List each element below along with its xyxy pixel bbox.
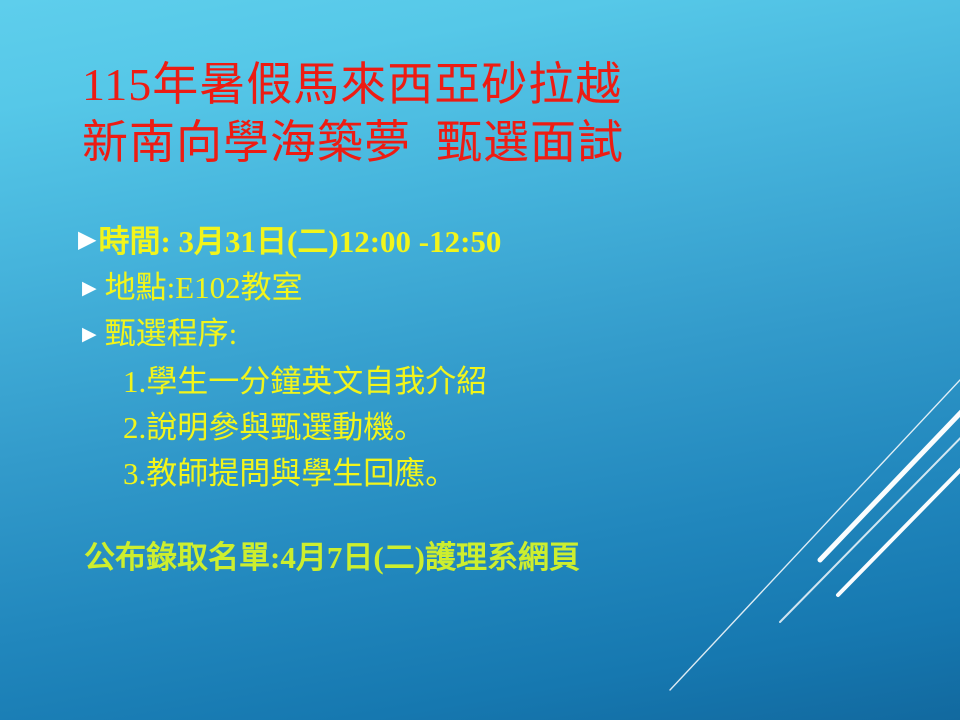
slide-title: 115年暑假馬來西亞砂拉越 新南向學海築夢 甄選面試 xyxy=(82,56,902,172)
bullet-item-procedure-label: 甄選程序: xyxy=(105,311,238,357)
procedure-list: 1.學生一分鐘英文自我介紹 2.說明參與甄選動機。 3.教師提問與學生回應。 xyxy=(78,359,918,497)
title-line-2: 新南向學海築夢 甄選面試 xyxy=(82,114,902,172)
list-item: 1.學生一分鐘英文自我介紹 xyxy=(123,359,918,405)
result-announcement: 公布錄取名單:4月7日(二)護理系網頁 xyxy=(84,536,580,580)
slide-body: ▶ 時間: 3月31日(二)12:00 -12:50 ▶ 地點:E102教室 ▶… xyxy=(78,218,918,497)
list-item: 2.說明參與甄選動機。 xyxy=(123,405,918,451)
bullet-item-time: ▶ 時間: 3月31日(二)12:00 -12:50 xyxy=(78,218,918,265)
triangle-bullet-icon: ▶ xyxy=(82,279,97,298)
bullet-item-procedure: ▶ 甄選程序: xyxy=(78,311,918,357)
bullet-item-location-label: 地點:E102教室 xyxy=(105,265,303,311)
triangle-bullet-icon: ▶ xyxy=(78,228,96,252)
presentation-slide: 115年暑假馬來西亞砂拉越 新南向學海築夢 甄選面試 ▶ 時間: 3月31日(二… xyxy=(0,0,960,720)
bullet-item-location: ▶ 地點:E102教室 xyxy=(78,265,918,311)
title-line-1: 115年暑假馬來西亞砂拉越 xyxy=(82,56,902,114)
bullet-item-time-label: 時間: 3月31日(二)12:00 -12:50 xyxy=(98,218,501,265)
triangle-bullet-icon: ▶ xyxy=(82,325,97,344)
list-item: 3.教師提問與學生回應。 xyxy=(123,451,918,497)
